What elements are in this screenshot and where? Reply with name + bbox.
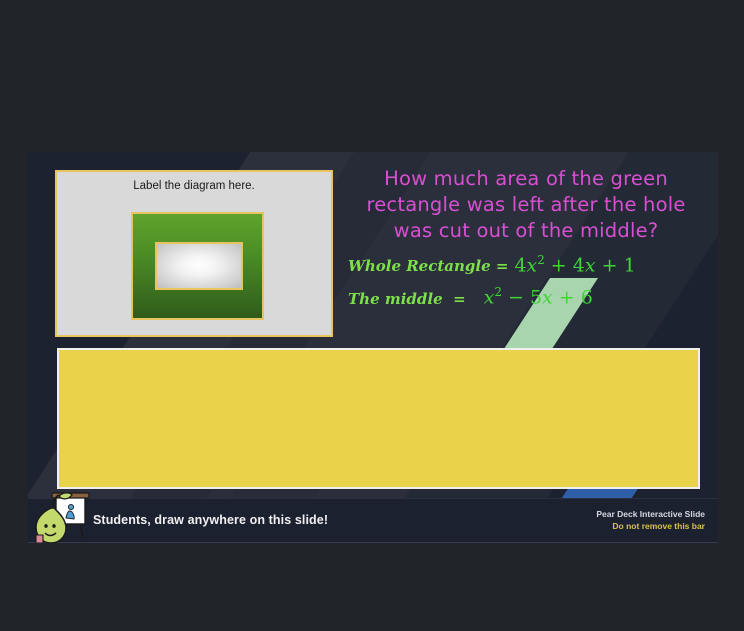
exponent: 2 [537, 253, 545, 267]
constant: 1 [624, 254, 636, 276]
variable: x [542, 287, 553, 309]
bar-divider [28, 542, 718, 543]
pear-deck-notice-line1: Pear Deck Interactive Slide [596, 508, 705, 520]
screen-background: Label the diagram here. How much area of… [0, 0, 744, 631]
formula-label: The middle = [348, 290, 466, 308]
formula-label: Whole Rectangle = [348, 257, 508, 275]
question-block: How much area of the green rectangle was… [346, 166, 706, 309]
constant: 6 [581, 287, 593, 309]
formula-row-whole-rectangle: Whole Rectangle = 4x2 + 4x + 1 [346, 253, 706, 276]
operator: − [502, 287, 530, 309]
operator: + [596, 254, 624, 276]
presentation-slide: Label the diagram here. How much area of… [28, 152, 718, 543]
variable: x [484, 287, 495, 309]
formula-expression: x2 − 5x + 6 [472, 285, 593, 308]
pear-deck-notice: Pear Deck Interactive Slide Do not remov… [596, 508, 705, 532]
pear-deck-notice-line2: Do not remove this bar [596, 520, 705, 532]
formula-row-the-middle: The middle = x2 − 5x + 6 [346, 285, 706, 308]
diagram-label-text: Label the diagram here. [57, 180, 331, 192]
coefficient: 4 [514, 254, 526, 276]
coefficient: 5 [530, 287, 542, 309]
coefficient: 4 [573, 254, 585, 276]
cut-out-hole-shape [155, 242, 243, 290]
green-rectangle-shape [131, 212, 264, 320]
pear-deck-prompt-text: Students, draw anywhere on this slide! [93, 513, 328, 527]
diagram-panel: Label the diagram here. [55, 170, 333, 337]
variable: x [527, 254, 538, 276]
pear-with-easel-icon [30, 488, 90, 543]
exponent: 2 [494, 285, 502, 299]
operator: + [545, 254, 573, 276]
student-drawing-canvas[interactable] [57, 348, 700, 489]
pear-deck-bar: Students, draw anywhere on this slide! P… [28, 498, 718, 543]
question-text: How much area of the green rectangle was… [346, 166, 706, 244]
operator: + [553, 287, 581, 309]
formula-expression: 4x2 + 4x + 1 [514, 253, 635, 276]
variable: x [585, 254, 596, 276]
